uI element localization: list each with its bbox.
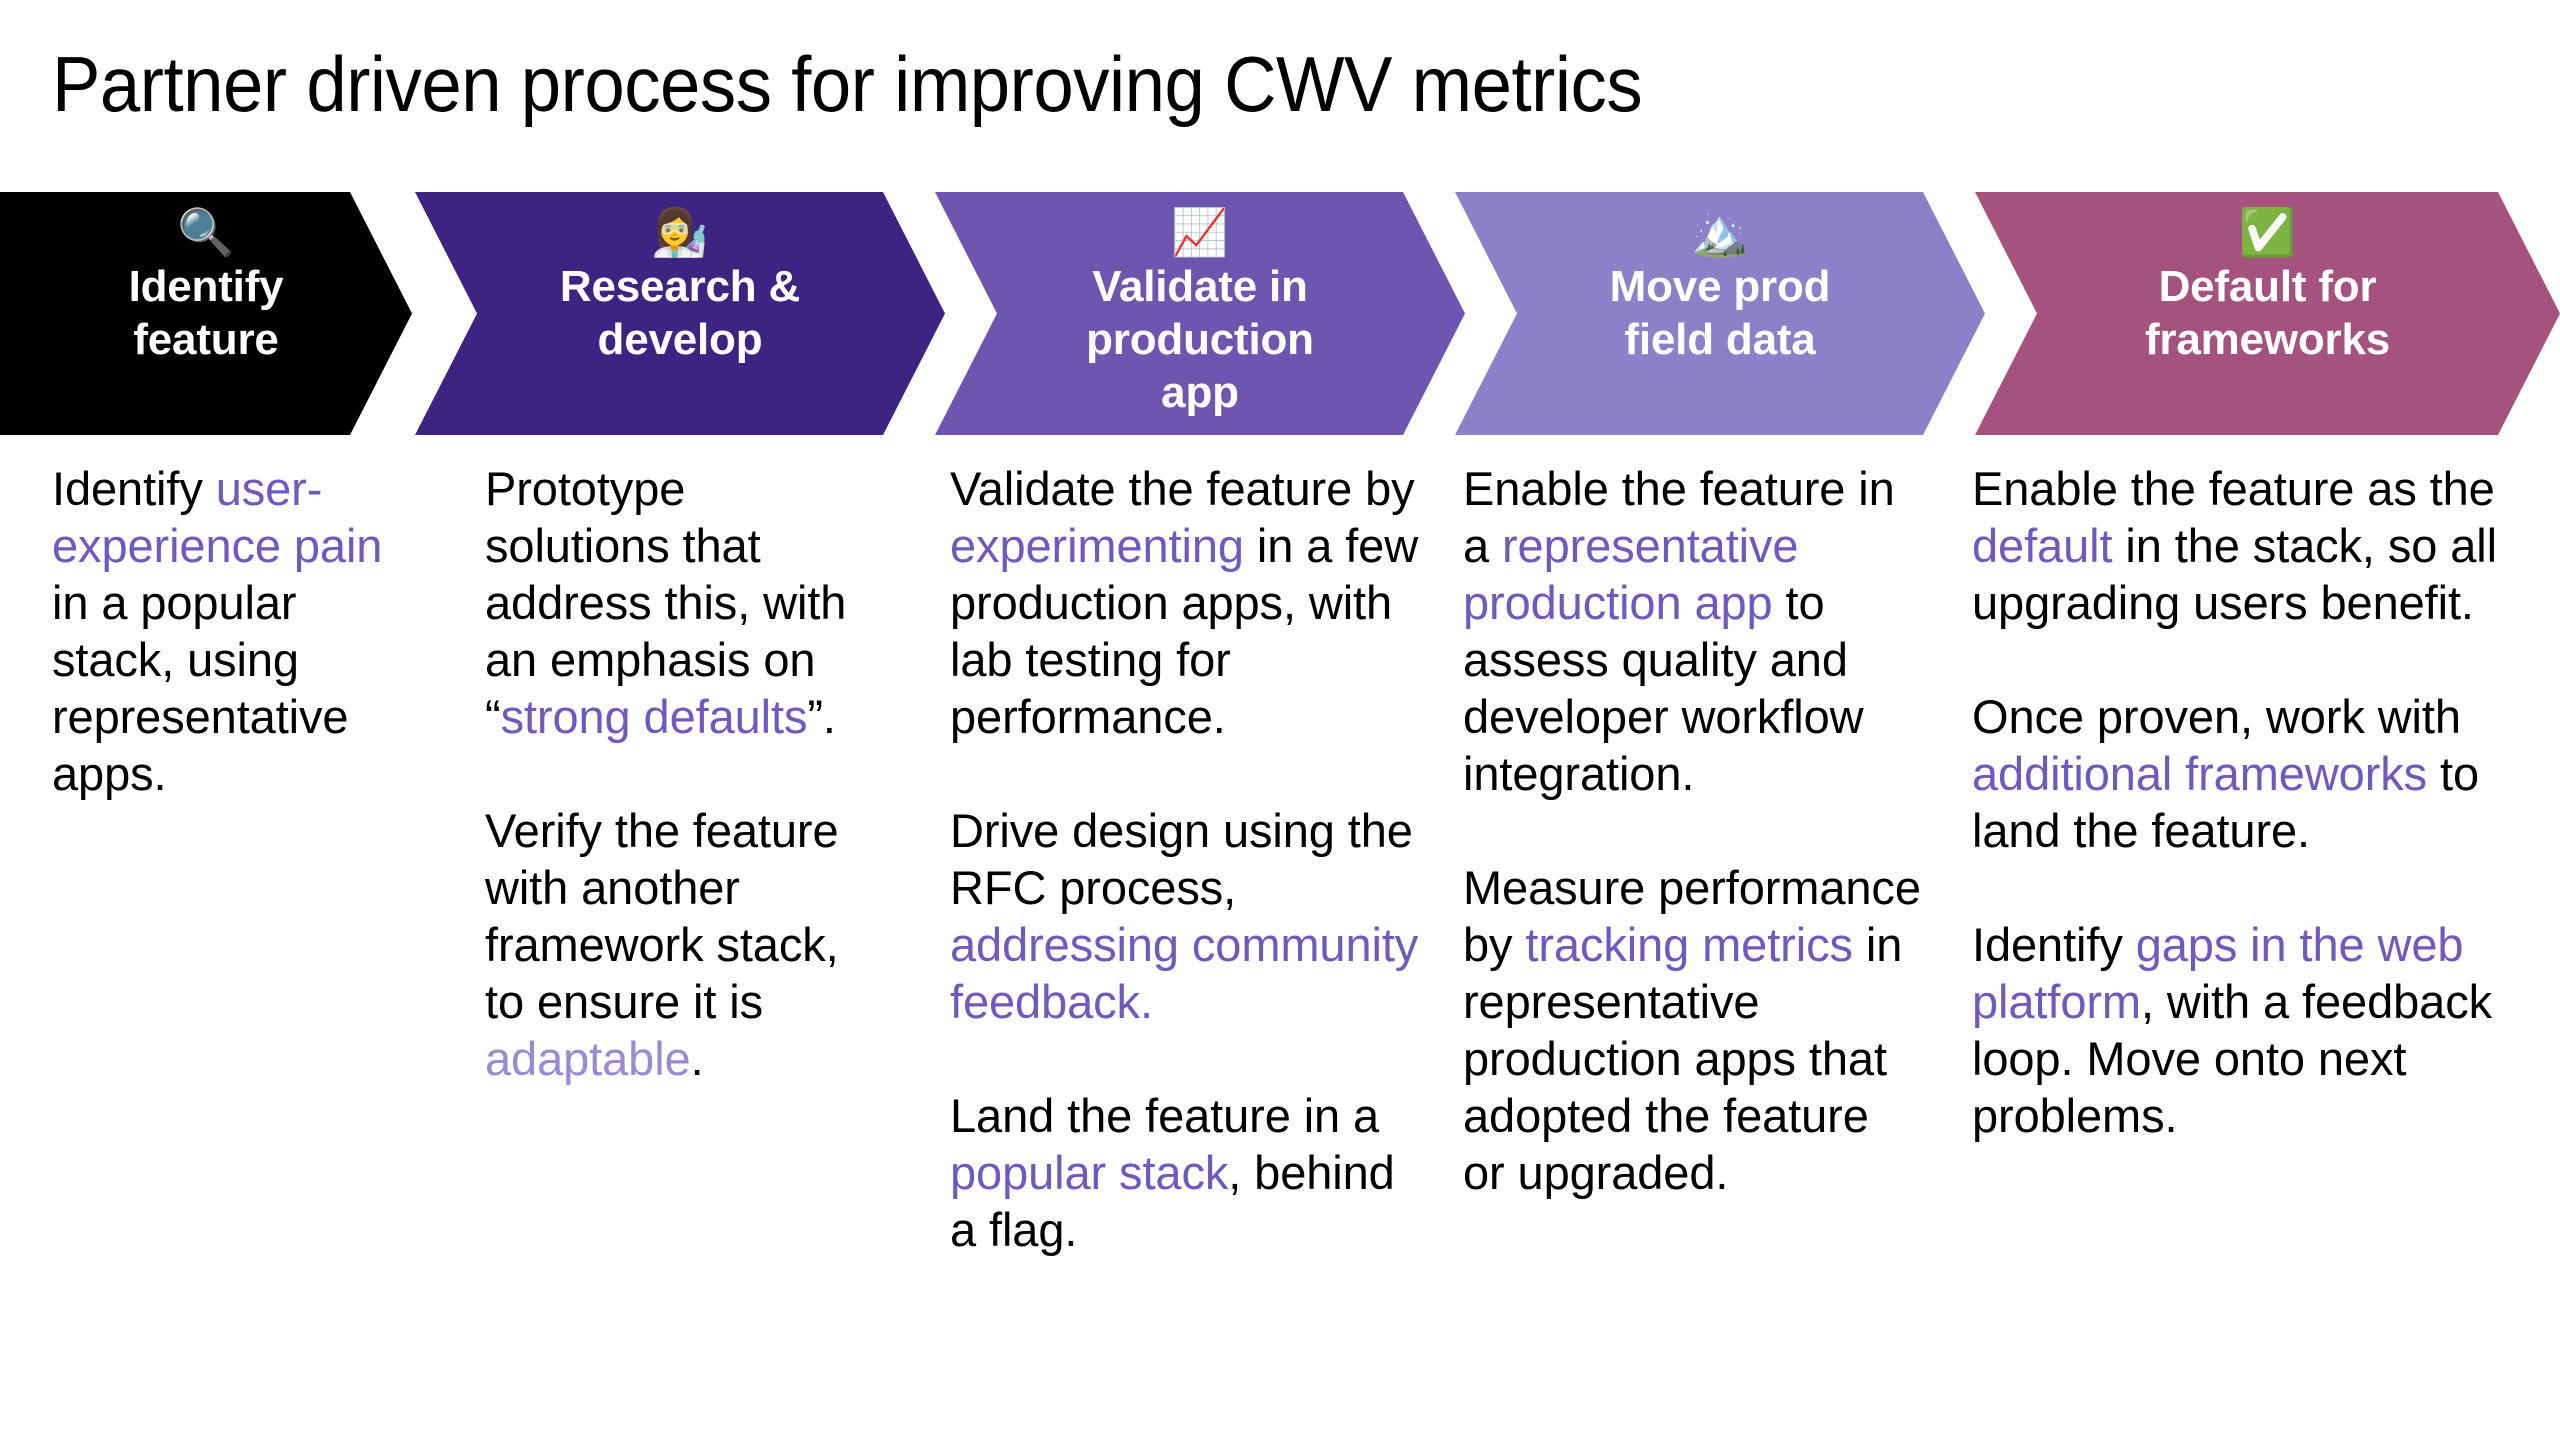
check-mark-button-icon: ✅ [2239,206,2296,260]
process-stage-label: Research & develop [550,260,810,366]
process-stage-label: Default for frameworks [2135,260,2400,366]
body-text: Identify [52,462,216,515]
description-paragraph: Prototype solutions that address this, w… [485,460,865,745]
highlighted-text: default [1972,519,2112,572]
description-paragraph: Enable the feature in a representative p… [1463,460,1923,802]
description-column-1: Identify user-experience pain in a popul… [52,460,424,802]
description-column-4: Enable the feature in a representative p… [1463,460,1923,1201]
body-text: Enable the feature as the [1972,462,2495,515]
description-paragraph: Validate the feature by experimenting in… [950,460,1430,745]
body-text: . [691,1032,704,1085]
highlighted-text: experimenting [950,519,1244,572]
process-stage-label: Move prod field data [1600,260,1841,366]
description-paragraph: Drive design using the RFC process, addr… [950,802,1430,1030]
description-paragraph: Enable the feature as the default in the… [1972,460,2528,631]
body-text: Land the feature in a [950,1089,1379,1142]
description-column-2: Prototype solutions that address this, w… [485,460,865,1087]
highlighted-text: strong defaults [501,690,808,743]
description-column-5: Enable the feature as the default in the… [1972,460,2528,1144]
body-text: in a popular stack, using representative… [52,576,348,800]
scientist-icon: 👩‍🔬 [651,206,708,260]
highlighted-text: adaptable [485,1032,691,1085]
body-text: Validate the feature by [950,462,1415,515]
process-stage-1[interactable]: 🔍Identify feature [0,192,412,435]
body-text: ”. [807,690,836,743]
description-column-3: Validate the feature by experimenting in… [950,460,1430,1258]
magnifying-glass-icon: 🔍 [177,206,234,260]
description-paragraph: Verify the feature with another framewor… [485,802,865,1087]
highlighted-text: additional frameworks [1972,747,2427,800]
body-text: Verify the feature with another framewor… [485,804,839,1028]
process-stage-5[interactable]: ✅Default for frameworks [1975,192,2560,435]
process-description-columns: Identify user-experience pain in a popul… [0,460,2560,1360]
highlighted-text: representative production app [1463,519,1798,629]
process-stage-3[interactable]: 📈Validate in production app [935,192,1465,435]
highlighted-text: tracking metrics [1525,918,1852,971]
body-text: Drive design using the RFC process, [950,804,1413,914]
snow-capped-mountain-icon: 🏔️ [1691,206,1748,260]
chart-increasing-icon: 📈 [1171,206,1228,260]
process-stage-label: Identify feature [119,260,294,366]
description-paragraph: Identify user-experience pain in a popul… [52,460,424,802]
process-stage-2[interactable]: 👩‍🔬Research & develop [415,192,945,435]
description-paragraph: Once proven, work with additional framew… [1972,688,2528,859]
slide-root: Partner driven process for improving CWV… [0,0,2560,1440]
process-stage-label: Validate in production app [1076,260,1324,419]
process-chevron-band: 🔍Identify feature👩‍🔬Research & develop📈V… [0,192,2560,435]
body-text: Once proven, work with [1972,690,2461,743]
highlighted-text: popular stack [950,1146,1228,1199]
description-paragraph: Identify gaps in the web platform, with … [1972,916,2528,1144]
description-paragraph: Measure performance by tracking metrics … [1463,859,1923,1201]
body-text: Identify [1972,918,2136,971]
process-stage-4[interactable]: 🏔️Move prod field data [1455,192,1985,435]
description-paragraph: Land the feature in a popular stack, beh… [950,1087,1430,1258]
highlighted-text: addressing community feedback. [950,918,1418,1028]
page-title: Partner driven process for improving CWV… [52,36,1642,132]
